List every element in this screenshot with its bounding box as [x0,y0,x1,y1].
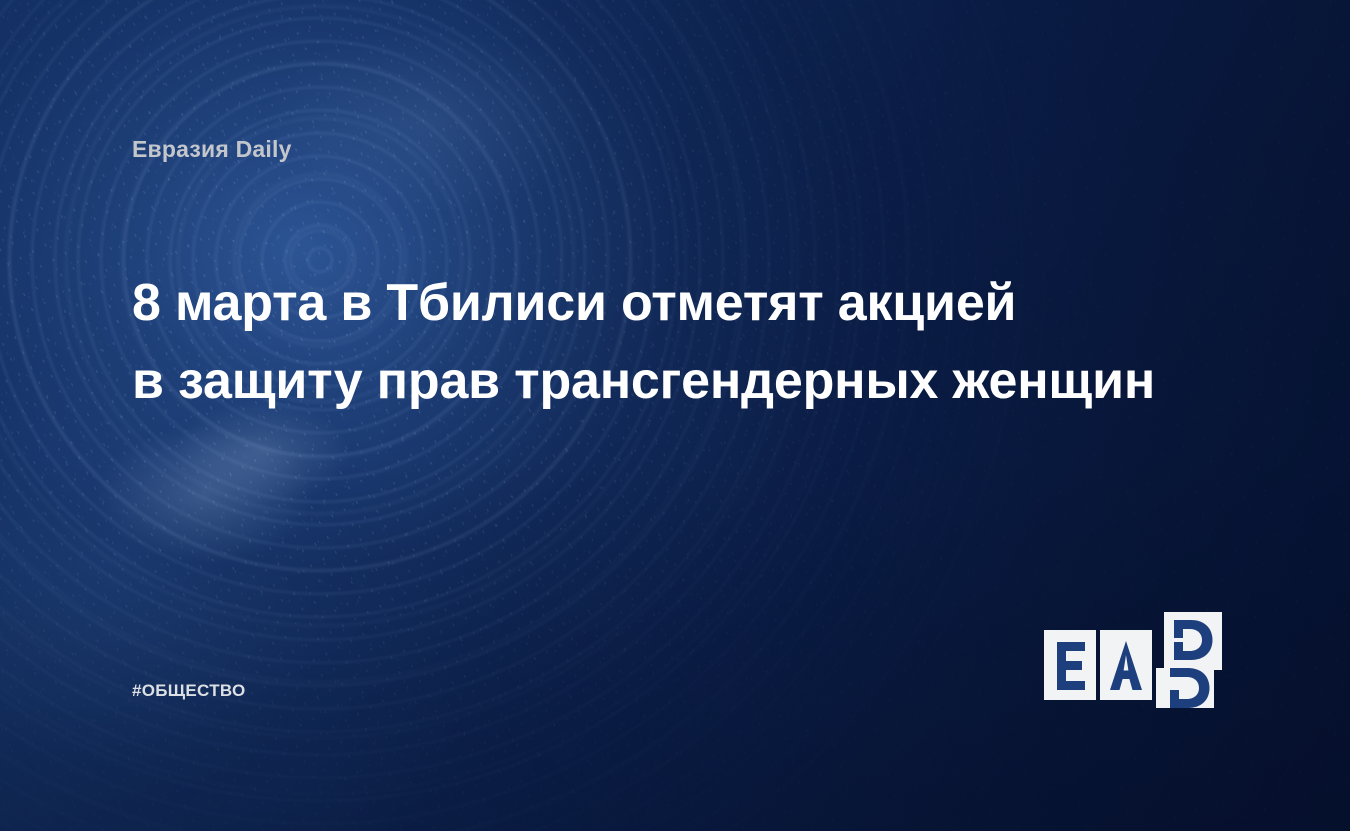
ead-logo [1044,612,1222,708]
category-tag[interactable]: #ОБЩЕСТВО [132,681,246,701]
card-content: Евразия Daily 8 марта в Тбилиси отметят … [0,0,1350,831]
brand-name: Евразия Daily [132,136,292,163]
headline-line-1: 8 марта в Тбилиси отметят акцией [132,264,1262,342]
headline-line-2: в защиту прав трансгендерных женщин [132,342,1262,420]
news-share-card: Евразия Daily 8 марта в Тбилиси отметят … [0,0,1350,831]
logo-letter-d-lower-icon [1156,668,1214,708]
logo-letter-a-icon [1100,630,1152,700]
logo-letter-e-icon [1044,630,1096,700]
logo-letter-d-upper-icon [1164,612,1222,670]
headline: 8 марта в Тбилиси отметят акцией в защит… [132,264,1262,420]
